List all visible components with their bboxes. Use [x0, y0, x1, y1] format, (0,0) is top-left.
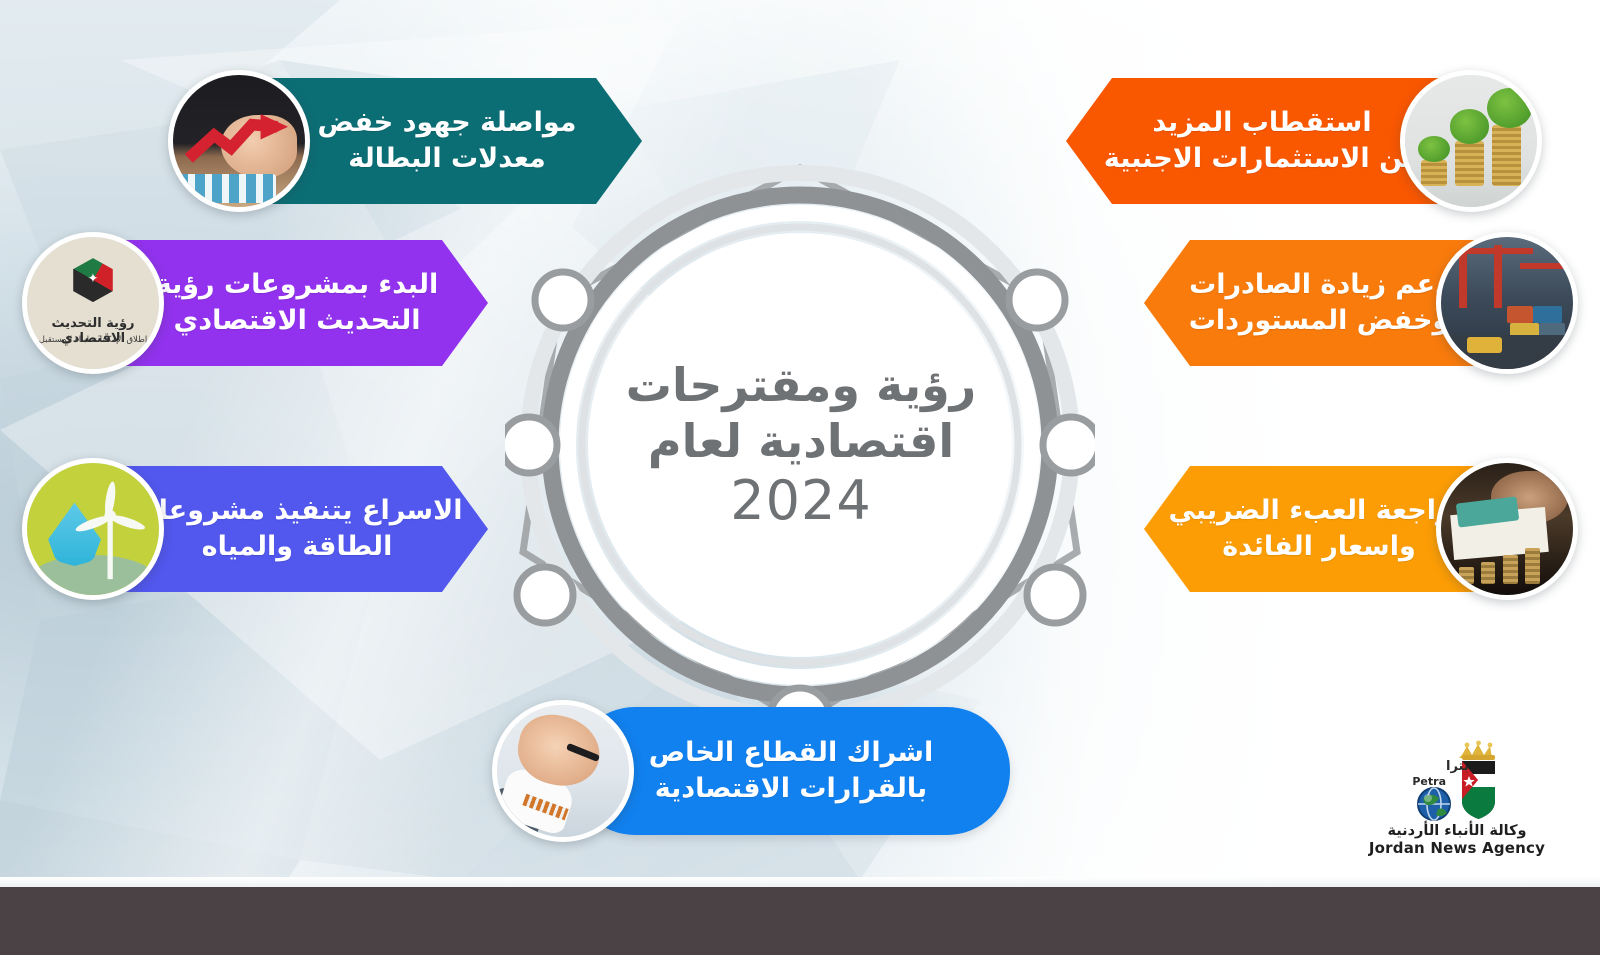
hub-node-bottom-right: [1027, 567, 1083, 623]
globe-icon: [1418, 788, 1450, 820]
hub-title-line-1: رؤية ومقترحات: [626, 358, 976, 412]
calculator-coins-photo-icon: [1436, 458, 1578, 600]
agency-name-english: Jordan News Agency: [1350, 839, 1564, 857]
banner-exports-imports[interactable]: دعم زيادة الصادراتوخفض المستوردات: [1144, 232, 1578, 374]
infographic-canvas: رؤية ومقترحات اقتصادية لعام 2024 مواصلة …: [0, 0, 1600, 955]
banner-plate-private-sector[interactable]: اشراك القطاع الخاصبالقرارات الاقتصادية: [572, 707, 1010, 835]
hand-signing-photo-icon: [492, 700, 634, 842]
banner-tax-interest[interactable]: مراجعة العبء الضريبيواسعار الفائدة: [1144, 458, 1578, 600]
banner-label-exports: دعم زيادة الصادراتوخفض المستوردات: [1171, 267, 1468, 339]
central-hub: رؤية ومقترحات اقتصادية لعام 2024: [505, 150, 1095, 740]
hub-node-right: [1043, 417, 1095, 473]
petra-badge-arabic: بترا: [1446, 759, 1469, 774]
hub-title-line-2: اقتصادية لعام: [648, 414, 954, 468]
hub-node-left: [505, 417, 557, 473]
petra-badge-latin: Petra: [1412, 775, 1446, 788]
agency-name-arabic: وكالة الأنباء الأردنية: [1350, 823, 1564, 839]
footer-bar: [0, 887, 1600, 955]
crown-icon: [1459, 741, 1495, 760]
hub-node-top-right: [1009, 272, 1065, 328]
banner-label-energy: الاسراع يتنفيذ مشروعاتالطاقة والمياه: [114, 493, 481, 565]
economic-modernisation-vision-logo-icon: ✦ رؤية التحديث الاقتصادي إطلاق الإمكانات…: [22, 232, 164, 374]
wind-turbine-glyph: [27, 463, 159, 595]
port-containers-photo-icon: [1436, 232, 1578, 374]
footer-light-strip: [0, 877, 1600, 887]
vision-logo-subtitle: إطلاق الإمكانات لبناء المستقبل: [27, 335, 159, 345]
banner-energy-water[interactable]: الاسراع يتنفيذ مشروعاتالطاقة والمياه: [22, 458, 488, 600]
hub-title-year: 2024: [730, 470, 871, 532]
hub-node-top-left: [535, 272, 591, 328]
banner-unemployment[interactable]: مواصلة جهود خفضمعدلات البطالة: [168, 70, 642, 212]
petra-logo-mark: بترا Petra: [1350, 735, 1564, 823]
banner-private-sector[interactable]: اشراك القطاع الخاصبالقرارات الاقتصادية: [492, 700, 1010, 842]
banner-label-fdi: استقطاب المزيدمن الاستثمارات الاجنبية: [1086, 105, 1438, 177]
banner-modernisation-vision[interactable]: ✦ رؤية التحديث الاقتصادي إطلاق الإمكانات…: [22, 232, 488, 374]
wind-turbine-water-drop-photo-icon: [22, 458, 164, 600]
banner-label-unemployment: مواصلة جهود خفضمعدلات البطالة: [300, 105, 595, 177]
banner-plate-unemployment[interactable]: مواصلة جهود خفضمعدلات البطالة: [252, 78, 642, 204]
rising-arrow-photo-icon: [168, 70, 310, 212]
banner-label-private-sector: اشراك القطاع الخاصبالقرارات الاقتصادية: [631, 735, 951, 807]
coins-trees-photo-icon: [1400, 70, 1542, 212]
red-growth-arrow: [184, 112, 295, 165]
banner-foreign-investment[interactable]: استقطاب المزيدمن الاستثمارات الاجنبية: [1066, 70, 1542, 212]
jordan-news-agency-logo: بترا Petra وكالة الأنباء الأردنية Jordan…: [1350, 735, 1564, 871]
hub-node-bottom-left: [517, 567, 573, 623]
banner-label-vision: البدء بمشروعات رؤيةالتحديث الاقتصادي: [138, 267, 456, 339]
hub-title-block: رؤية ومقترحات اقتصادية لعام 2024: [591, 320, 1011, 570]
